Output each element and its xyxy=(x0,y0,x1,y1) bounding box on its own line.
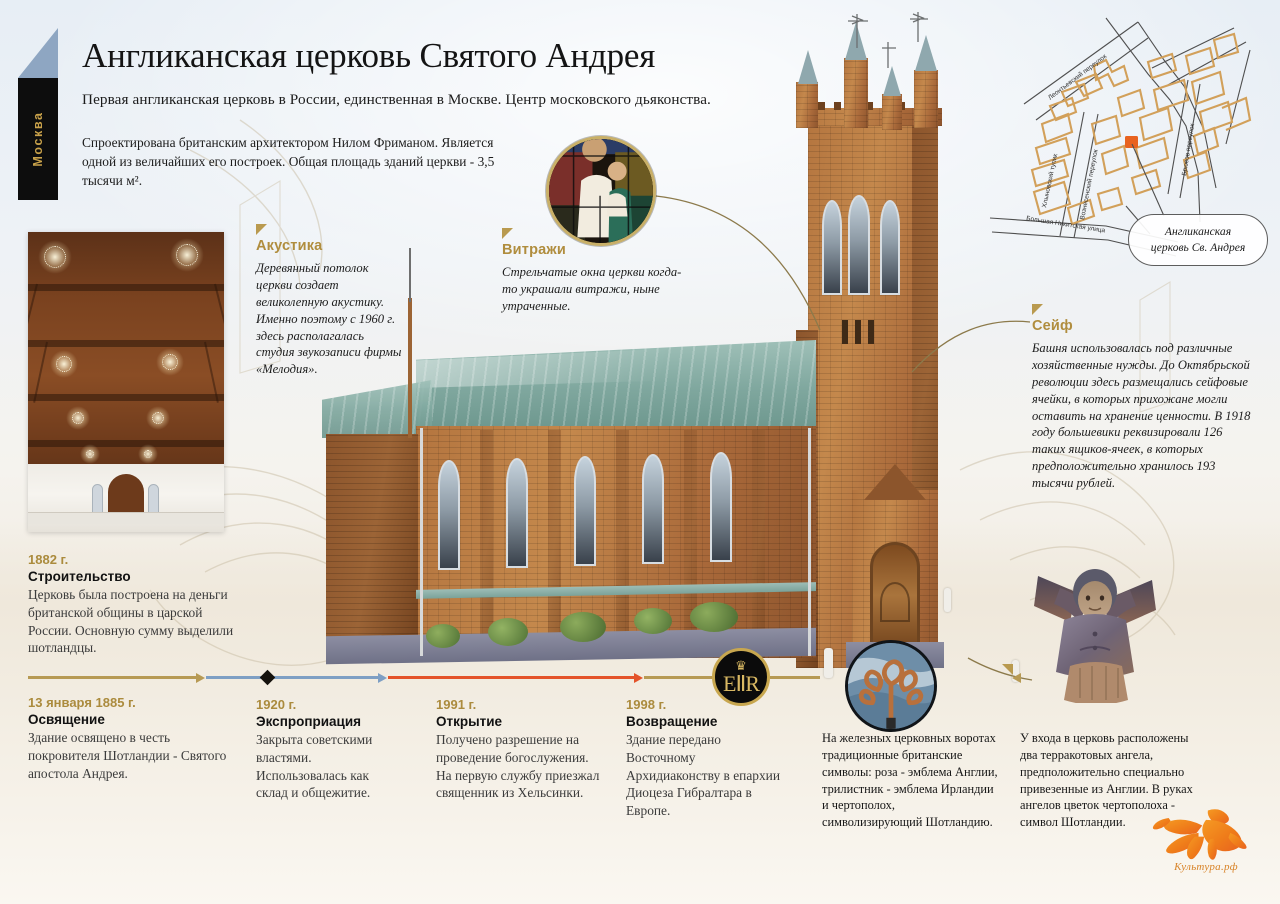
note-acoustics: Акустика Деревянный потолок церкви созда… xyxy=(256,224,402,378)
kultura-rf-logo[interactable]: Культура.рф xyxy=(1146,804,1266,882)
timeline-body: Получено разрешение на проведение богосл… xyxy=(436,731,606,802)
note-marker-triangle-icon xyxy=(1002,664,1013,675)
note-safe-text: Башня использовалась под различные хозяй… xyxy=(1032,340,1254,492)
timeline-item-opening: 1991 г. Открытие Получено разрешение на … xyxy=(436,697,606,802)
moscow-tab-flag-icon xyxy=(18,28,58,78)
logo-caption: Культура.рф xyxy=(1146,861,1266,873)
timeline-body: Закрыта советскими властями. Использовал… xyxy=(256,731,400,802)
person-silhouette xyxy=(1012,660,1019,682)
timeline-year: 13 января 1885 г. xyxy=(28,695,228,710)
map-callout-bubble: Англиканская церковь Св. Андрея xyxy=(1128,214,1268,266)
region-tab-label: Москва xyxy=(31,111,45,166)
bottom-note-gates-text: На железных церковных воротах традиционн… xyxy=(822,730,998,831)
downpipe xyxy=(420,428,423,656)
shrub xyxy=(634,608,672,634)
map-callout-line2: церковь Св. Андрея xyxy=(1151,240,1246,256)
person-silhouette xyxy=(824,648,833,678)
map-callout-line1: Англиканская xyxy=(1165,224,1231,240)
buttress xyxy=(548,430,561,658)
note-safe-title: Сейф xyxy=(1032,318,1254,334)
tower-vent-slots xyxy=(842,320,874,344)
page-subtitle: Первая англиканская церковь в России, ед… xyxy=(82,91,882,109)
svg-text:Леонтьевский переулок: Леонтьевский переулок xyxy=(1046,52,1108,101)
church-gate-inset xyxy=(845,640,937,732)
map-marker xyxy=(1125,136,1138,148)
timeline-body: Церковь была построена на деньги британс… xyxy=(28,586,240,657)
tower-window-3 xyxy=(880,200,900,295)
timeline-year: 1991 г. xyxy=(436,697,606,712)
page-lead-text: Спроектирована британским архитектором Н… xyxy=(82,133,502,191)
nave-finial-rod xyxy=(409,248,411,302)
location-map: Леонтьевский переулок Вознесенский переу… xyxy=(988,8,1274,298)
region-tab-moscow[interactable]: Москва xyxy=(18,78,58,200)
nave-window xyxy=(710,452,732,562)
buttress xyxy=(752,430,765,658)
infographic-page: Москва Англиканская церковь Святого Андр… xyxy=(0,0,1280,904)
interior-ceiling-photo xyxy=(28,232,224,532)
tower-window-2 xyxy=(848,195,870,295)
note-marker-triangle-icon xyxy=(256,224,267,235)
timeline-item-expropriation: 1920 г. Экспроприация Закрыта советскими… xyxy=(256,697,400,802)
timeline-heading: Экспроприация xyxy=(256,714,400,729)
timeline-body: Здание освящено в честь покровителя Шотл… xyxy=(28,729,228,782)
terracotta-angel-statue xyxy=(1020,548,1170,703)
svg-text:Брюсов переулок: Брюсов переулок xyxy=(1181,123,1196,176)
note-stained-glass-text: Стрельчатые окна церкви когда-то украшал… xyxy=(502,264,688,315)
note-marker-triangle-icon xyxy=(502,228,513,239)
timeline-item-consecration: 13 января 1885 г. Освящение Здание освящ… xyxy=(28,695,228,782)
entrance-gable xyxy=(864,464,926,500)
note-stained-glass: Витражи Стрельчатые окна церкви когда-то… xyxy=(502,228,688,315)
timeline-body: Здание передано Восточному Архидиаконств… xyxy=(626,731,782,820)
turret-mid-back xyxy=(882,94,902,130)
nave-window xyxy=(438,460,460,570)
note-acoustics-text: Деревянный потолок церкви создает велико… xyxy=(256,260,402,378)
nave-wall-west xyxy=(326,434,418,658)
svg-text:Большая Никитская улица: Большая Никитская улица xyxy=(1026,215,1106,234)
timeline-heading: Открытие xyxy=(436,714,606,729)
shrub xyxy=(426,624,460,648)
tower-window-1 xyxy=(822,200,842,295)
note-stained-glass-title: Витражи xyxy=(502,242,688,258)
note-marker-triangle-icon xyxy=(1032,304,1043,315)
shrub xyxy=(560,612,606,642)
shrub xyxy=(488,618,528,646)
angel-note-marker xyxy=(1002,664,1013,678)
timeline-item-construction: 1882 г. Строительство Церковь была постр… xyxy=(28,552,240,657)
header: Англиканская церковь Святого Андрея Перв… xyxy=(82,38,882,191)
downpipe xyxy=(808,428,811,656)
note-safe: Сейф Башня использовалась под различные … xyxy=(1032,304,1254,492)
buttress xyxy=(616,430,629,658)
note-acoustics-title: Акустика xyxy=(256,238,402,254)
nave-window xyxy=(506,458,528,568)
cipher-text: EⅡR xyxy=(723,673,759,695)
timeline-heading: Строительство xyxy=(28,569,240,584)
interior-balcony-rail xyxy=(28,512,224,524)
person-silhouette xyxy=(944,588,951,612)
timeline-year: 1882 г. xyxy=(28,552,240,567)
firebird-icon xyxy=(1150,804,1262,860)
entrance-door-ironwork-icon xyxy=(880,582,910,622)
nave-window xyxy=(642,454,664,564)
timeline-item-return: 1998 г. Возвращение Здание передано Вост… xyxy=(626,697,782,820)
timeline-heading: Возвращение xyxy=(626,714,782,729)
bottom-note-gates: На железных церковных воротах традиционн… xyxy=(822,730,998,831)
timeline-year: 1920 г. xyxy=(256,697,400,712)
shrub xyxy=(690,602,738,632)
timeline-heading: Освящение xyxy=(28,712,228,727)
nave-finial xyxy=(408,298,412,438)
timeline-year: 1998 г. xyxy=(626,697,782,712)
nave-window xyxy=(574,456,596,566)
page-title: Англиканская церковь Святого Андрея xyxy=(82,38,882,75)
